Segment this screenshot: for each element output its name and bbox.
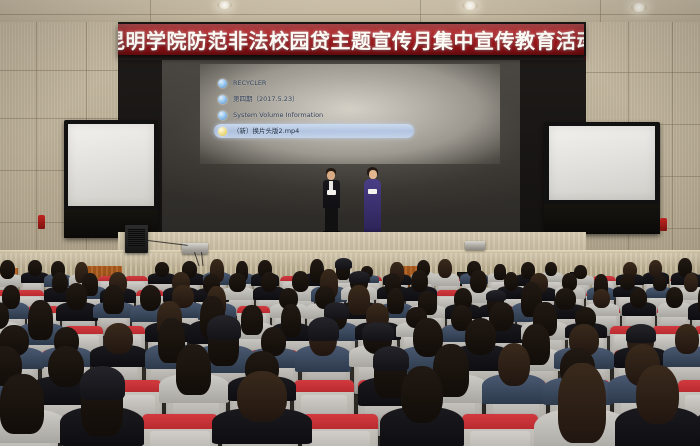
host-head <box>327 171 335 180</box>
event-banner: 昆明学院防范非法校园贷主题宣传月集中宣传教育活动 <box>118 24 584 57</box>
fire-extinguisher <box>660 218 667 231</box>
audience-member-head <box>438 259 452 278</box>
audience-member-head <box>176 344 211 395</box>
audience-member-head <box>281 304 301 337</box>
file-list: RECYCLER 第四期（2017.5.23） System Volume In… <box>200 64 500 164</box>
wall-seam <box>583 72 700 73</box>
audience-member-cap <box>486 290 506 301</box>
audience-member-head <box>653 275 667 291</box>
wall-seam <box>672 22 673 272</box>
audience-member-head <box>558 363 606 443</box>
audience-member-cap <box>349 271 370 283</box>
audience-member-head <box>261 272 277 292</box>
host-script-card <box>327 190 336 195</box>
wall-seam <box>36 22 37 268</box>
audience-member-head <box>28 300 53 340</box>
audience-member-head <box>555 288 576 310</box>
audience-member-head <box>666 287 683 308</box>
audience-member-head <box>140 285 161 311</box>
host-head <box>369 170 377 179</box>
audience-member-head <box>292 271 309 292</box>
audience-member-head <box>28 260 42 276</box>
audience-member-head <box>593 289 610 308</box>
file-name: 第四期（2017.5.23） <box>233 96 299 103</box>
audience-member-head <box>504 272 518 291</box>
audience-member-head <box>237 371 287 422</box>
audience-member-head <box>465 318 496 355</box>
video-file-icon <box>218 127 227 136</box>
ceiling-downlight-icon <box>631 3 647 12</box>
file-list-item[interactable]: System Volume Information <box>214 108 418 122</box>
audience-member-head <box>155 262 169 277</box>
host-legs <box>325 207 338 233</box>
host-shirt <box>329 181 333 190</box>
wall-seam <box>0 118 122 119</box>
file-list-item[interactable]: RECYCLER <box>214 76 418 90</box>
audience-member-cap <box>335 258 352 269</box>
audience-member-head <box>545 262 557 276</box>
audience-member-head <box>104 323 133 354</box>
audience-member-head <box>498 343 530 386</box>
audience-member-head <box>401 366 443 423</box>
projection-screen-right <box>544 122 660 234</box>
audience-member-head <box>52 272 68 293</box>
male-host <box>318 168 344 236</box>
ceiling-seam <box>0 14 700 15</box>
file-name: （新）换片头版2.mp4 <box>233 128 299 135</box>
speaker-grill <box>128 229 145 246</box>
audience-member-head <box>675 324 699 354</box>
screen-surface <box>549 126 655 200</box>
audience-member-cap <box>207 315 241 340</box>
banner-rod <box>118 55 584 60</box>
audience-member-head <box>411 270 428 292</box>
ceiling-downlight-icon <box>462 1 478 10</box>
audience-member-head <box>0 260 15 279</box>
audience-member-head <box>66 283 87 310</box>
stage-lip <box>0 250 700 253</box>
file-name: System Volume Information <box>233 112 323 119</box>
wall-seam <box>0 70 122 71</box>
audience-member-head <box>636 365 679 424</box>
auditorium-screenshot: 昆明学院防范非法校园贷主题宣传月集中宣传教育活动 RECYCLER 第四期（20… <box>0 0 700 446</box>
screen-surface <box>68 124 154 206</box>
stage-monitor-speaker <box>125 225 148 253</box>
fire-extinguisher <box>38 215 45 229</box>
banner-title: 昆明学院防范非法校园贷主题宣传月集中宣传教育活动 <box>118 31 584 51</box>
folder-icon <box>218 95 227 104</box>
audience-member-cap <box>373 346 409 371</box>
audience-member-head <box>684 273 698 292</box>
audience-member-head <box>620 274 635 290</box>
floor-projector <box>465 241 485 250</box>
audience-member-cap <box>308 317 339 341</box>
audience-member-head <box>103 285 124 314</box>
file-list-item-selected[interactable]: （新）换片头版2.mp4 <box>214 124 414 138</box>
projected-screen-area: RECYCLER 第四期（2017.5.23） System Volume In… <box>200 64 500 164</box>
audience-member-head <box>0 374 44 434</box>
screen-skirt <box>544 204 660 234</box>
audience-member-cap <box>626 324 656 343</box>
folder-icon <box>218 79 227 88</box>
folder-icon <box>218 111 227 120</box>
audience-member-cap <box>324 302 349 319</box>
audience-member-head <box>630 288 647 308</box>
audience-member-head <box>229 273 246 292</box>
audience-member-head <box>470 270 487 293</box>
audience-member-cap <box>362 322 394 341</box>
auditorium-seat <box>462 414 538 446</box>
host-script-card <box>368 189 377 194</box>
audience-member-head <box>241 305 263 335</box>
projection-screen-left <box>64 120 158 238</box>
audience-member-cap <box>80 366 125 400</box>
auditorium-seat <box>302 414 378 446</box>
auditorium-seat <box>142 414 218 446</box>
ceiling-downlight-icon <box>217 1 232 9</box>
file-name: RECYCLER <box>233 80 266 87</box>
female-host <box>358 167 386 237</box>
host-gown <box>364 179 381 234</box>
audience-member-head <box>48 346 84 387</box>
audience-member-head <box>387 288 404 314</box>
file-list-item[interactable]: 第四期（2017.5.23） <box>214 92 418 106</box>
